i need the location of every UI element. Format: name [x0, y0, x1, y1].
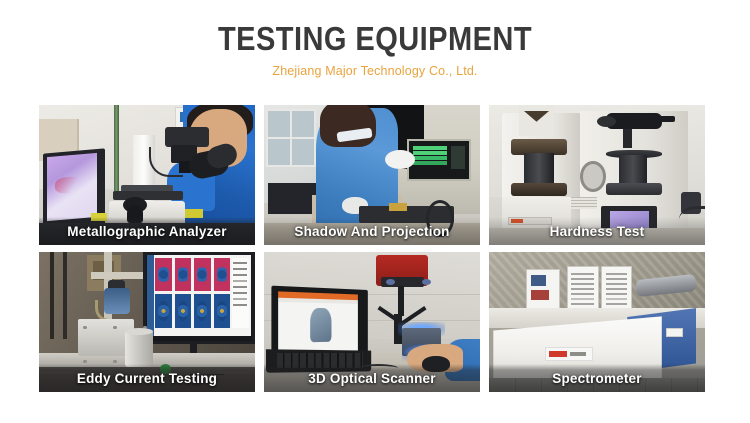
page-title: TESTING EQUIPMENT	[45, 22, 705, 57]
gallery-card-shadow-and-projection[interactable]: Shadow And Projection	[264, 105, 480, 245]
gallery-card-eddy-current-testing[interactable]: Eddy Current Testing	[39, 252, 255, 392]
gallery-card-spectrometer[interactable]: Spectrometer	[489, 252, 705, 392]
gallery-card-metallographic-analyzer[interactable]: Metallographic Analyzer	[39, 105, 255, 245]
caption-label: Shadow And Projection	[294, 224, 449, 239]
page-header: TESTING EQUIPMENT Zhejiang Major Technol…	[0, 0, 750, 78]
company-subtitle: Zhejiang Major Technology Co., Ltd.	[0, 64, 750, 78]
caption-bar: Eddy Current Testing	[39, 364, 255, 392]
equipment-gallery-grid: Metallographic Analyzer Shadow And Proje…	[39, 105, 705, 392]
caption-label: 3D Optical Scanner	[308, 371, 435, 386]
caption-bar: 3D Optical Scanner	[264, 364, 480, 392]
caption-bar: Hardness Test	[489, 217, 705, 245]
gallery-card-3d-optical-scanner[interactable]: 3D Optical Scanner	[264, 252, 480, 392]
caption-bar: Shadow And Projection	[264, 217, 480, 245]
caption-label: Spectrometer	[552, 371, 641, 386]
caption-bar: Spectrometer	[489, 364, 705, 392]
caption-label: Eddy Current Testing	[77, 371, 217, 386]
caption-label: Hardness Test	[550, 224, 645, 239]
caption-bar: Metallographic Analyzer	[39, 217, 255, 245]
testing-equipment-page: TESTING EQUIPMENT Zhejiang Major Technol…	[0, 0, 750, 423]
gallery-card-hardness-test[interactable]: Hardness Test	[489, 105, 705, 245]
caption-label: Metallographic Analyzer	[67, 224, 226, 239]
